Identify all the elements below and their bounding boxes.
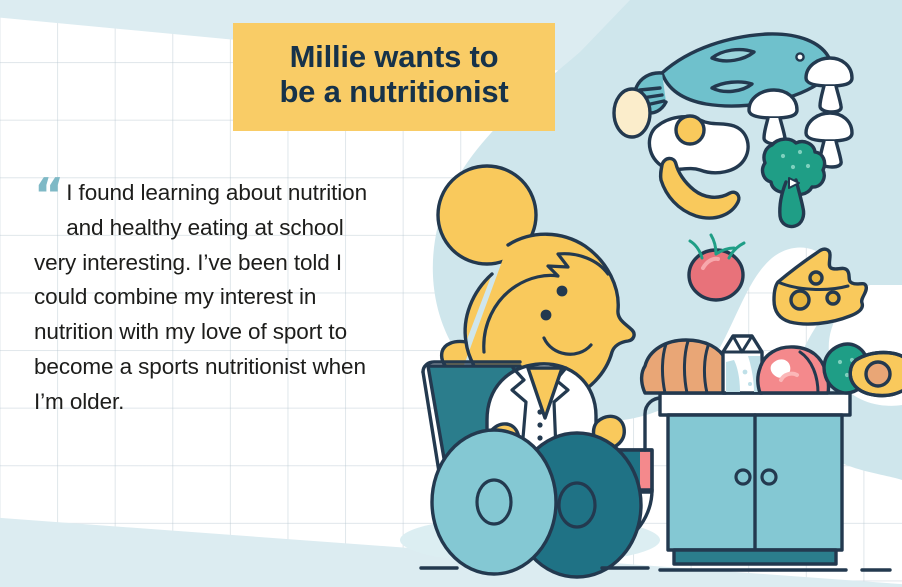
quote-block: “ I found learning about nutrition and h… — [34, 176, 374, 419]
poster-canvas: Millie wants to be a nutritionist “ I fo… — [0, 0, 902, 587]
title-line-1: Millie wants to — [290, 40, 499, 75]
prop-kitchen-counter — [660, 393, 850, 564]
food-broccoli — [763, 139, 825, 226]
food-egg — [614, 89, 650, 137]
food-milk-carton — [723, 336, 762, 393]
food-mushroom-3 — [749, 90, 797, 144]
wheelchair-front-wheel — [432, 430, 556, 574]
food-tomato — [689, 235, 744, 300]
food-cheese — [774, 249, 866, 324]
title-banner: Millie wants to be a nutritionist — [233, 23, 555, 131]
food-bread-loaf — [642, 340, 729, 393]
title-line-2: be a nutritionist — [279, 75, 508, 110]
food-ham — [758, 347, 829, 393]
quote-text: I found learning about nutrition and hea… — [34, 180, 367, 414]
food-fish — [634, 34, 830, 113]
food-avocado-half — [850, 353, 902, 396]
quote-mark-icon: “ — [34, 178, 62, 214]
food-mushroom-1 — [806, 58, 852, 112]
